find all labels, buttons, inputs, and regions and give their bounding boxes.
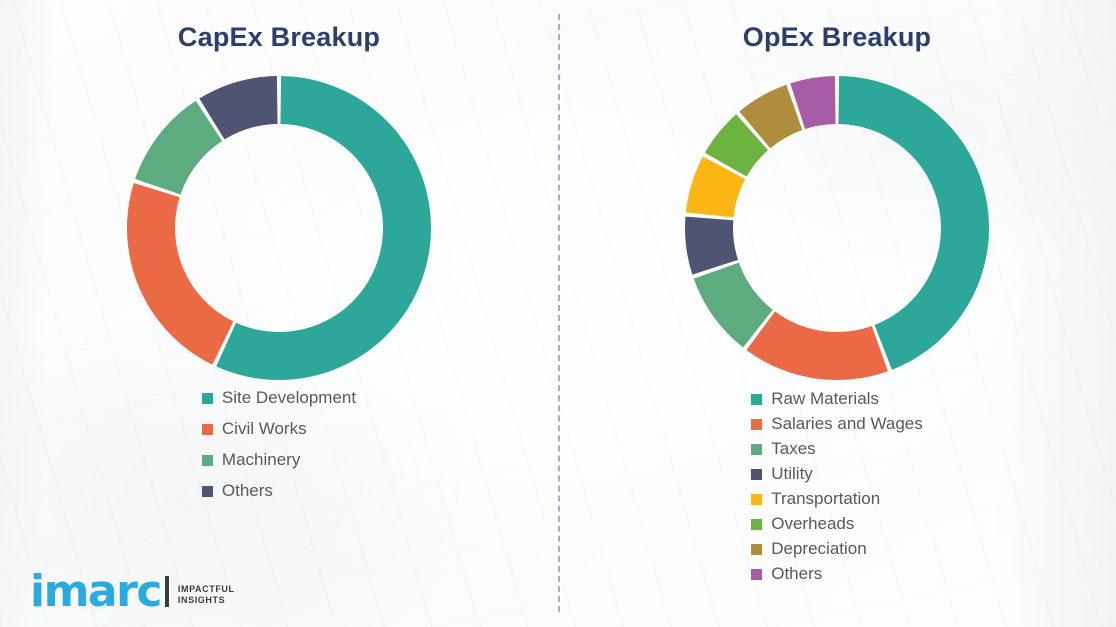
logo-tagline-line1: IMPACTFUL	[178, 584, 235, 595]
capex-legend-item[interactable]: Site Development	[202, 388, 356, 408]
legend-label: Transportation	[771, 489, 880, 509]
opex-legend-item[interactable]: Depreciation	[751, 539, 923, 559]
legend-label: Depreciation	[771, 539, 866, 559]
legend-swatch-icon	[751, 494, 762, 505]
logo-wordmark: imarc	[30, 574, 161, 610]
legend-label: Raw Materials	[771, 389, 879, 409]
legend-swatch-icon	[751, 519, 762, 530]
legend-swatch-icon	[751, 469, 762, 480]
logo-tagline-line2: INSIGHTS	[178, 595, 235, 606]
capex-donut-chart	[123, 72, 435, 384]
legend-label: Taxes	[771, 439, 815, 459]
legend-swatch-icon	[751, 394, 762, 405]
imarc-logo: imarc IMPACTFUL INSIGHTS	[30, 574, 235, 610]
legend-label: Site Development	[222, 388, 356, 408]
capex-slice-civil-works	[127, 183, 233, 365]
opex-legend-item[interactable]: Salaries and Wages	[751, 414, 923, 434]
opex-panel: OpEx Breakup Raw MaterialsSalaries and W…	[558, 0, 1116, 627]
legend-label: Utility	[771, 464, 813, 484]
legend-label: Machinery	[222, 450, 300, 470]
capex-panel: CapEx Breakup Site DevelopmentCivil Work…	[0, 0, 558, 627]
opex-legend-item[interactable]: Transportation	[751, 489, 923, 509]
opex-legend: Raw MaterialsSalaries and WagesTaxesUtil…	[558, 389, 1116, 589]
legend-swatch-icon	[202, 424, 213, 435]
legend-swatch-icon	[202, 486, 213, 497]
opex-legend-item[interactable]: Utility	[751, 464, 923, 484]
legend-label: Overheads	[771, 514, 854, 534]
capex-slice-machinery	[135, 101, 222, 195]
legend-swatch-icon	[202, 393, 213, 404]
capex-donut-svg	[123, 72, 435, 384]
opex-legend-item[interactable]: Raw Materials	[751, 389, 923, 409]
logo-tagline: IMPACTFUL INSIGHTS	[178, 584, 235, 611]
opex-donut-svg	[681, 72, 993, 384]
logo-divider-bar	[165, 576, 169, 607]
legend-swatch-icon	[751, 419, 762, 430]
legend-label: Others	[771, 564, 822, 584]
legend-swatch-icon	[751, 544, 762, 555]
legend-swatch-icon	[751, 569, 762, 580]
slide-canvas: CapEx Breakup Site DevelopmentCivil Work…	[0, 0, 1116, 627]
legend-swatch-icon	[751, 444, 762, 455]
opex-legend-item[interactable]: Taxes	[751, 439, 923, 459]
legend-label: Civil Works	[222, 419, 307, 439]
opex-slice-salaries-and-wages	[746, 312, 887, 380]
capex-legend-item[interactable]: Machinery	[202, 450, 356, 470]
legend-label: Others	[222, 481, 273, 501]
legend-swatch-icon	[202, 455, 213, 466]
opex-legend-item[interactable]: Others	[751, 564, 923, 584]
capex-legend: Site DevelopmentCivil WorksMachineryOthe…	[0, 388, 558, 512]
capex-legend-item[interactable]: Others	[202, 481, 356, 501]
capex-legend-item[interactable]: Civil Works	[202, 419, 356, 439]
opex-title: OpEx Breakup	[558, 22, 1116, 53]
opex-donut-chart	[681, 72, 993, 384]
opex-legend-item[interactable]: Overheads	[751, 514, 923, 534]
logo-mark: imarc IMPACTFUL INSIGHTS	[30, 574, 235, 610]
opex-slice-raw-materials	[838, 76, 989, 370]
legend-label: Salaries and Wages	[771, 414, 923, 434]
capex-title: CapEx Breakup	[0, 22, 558, 53]
